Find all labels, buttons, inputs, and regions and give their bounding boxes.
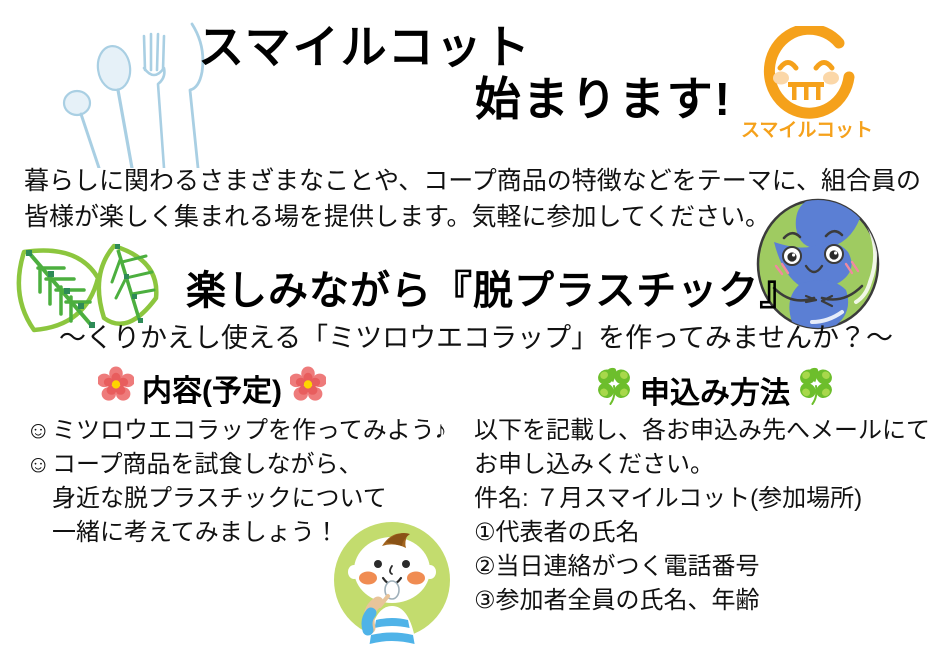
list-item-text: ミツロウエコラップを作ってみよう♪ [52, 417, 447, 444]
smiley-bullet-icon: ☺ [26, 448, 52, 482]
list-item-text: 一緒に考えてみましょう！ [52, 519, 339, 546]
flyer-title: スマイルコット 始まります! [198, 22, 738, 125]
application-line: ③参加者全員の氏名、年齢 [474, 584, 934, 618]
application-line: 以下を記載し、各お申込み先へメールにて [474, 414, 934, 448]
flower-icon [98, 366, 134, 410]
flower-icon [290, 366, 326, 410]
section-label-contents: 内容(予定) [140, 366, 284, 410]
section-header-application: 申込み方法 [596, 366, 834, 414]
list-item-text: 身近な脱プラスチックについて [52, 485, 387, 512]
main-headline: 楽しみながら『脱プラスチック』 [186, 258, 746, 316]
list-item: ☺ミツロウエコラップを作ってみよう♪ [26, 414, 466, 448]
list-item-text: コープ商品を試食しながら、 [52, 451, 363, 478]
application-line: ①代表者の氏名 [474, 516, 934, 550]
application-subject-line: 件名: ７月スマイルコット(参加場所) [474, 482, 934, 516]
smiley-bullet-icon: ☺ [26, 414, 52, 448]
clover-icon [798, 366, 834, 414]
flyer-canvas: スマイルコット 始まります! スマイルコット 暮らしに関わるさまざまなことや、コ… [0, 0, 940, 644]
sub-headline: 〜くりかえし使える「ミツロウエコラップ」を作ってみませんか？〜 [46, 316, 906, 355]
list-item: 身近な脱プラスチックについて [26, 482, 466, 516]
list-item: ☺コープ商品を試食しながら、 [26, 448, 466, 482]
intro-line-1: 暮らしに関わるさまざまなことや、コープ商品の特徴などをテーマに、組合員の [24, 163, 924, 199]
smile-cot-logo: スマイルコット [722, 26, 892, 146]
title-line-1: スマイルコット [198, 22, 738, 74]
smiling-face-c-icon [742, 26, 872, 121]
application-line: お申し込みください。 [474, 448, 934, 482]
application-instructions: 以下を記載し、各お申込み先へメールにて お申し込みください。 件名: ７月スマイ… [474, 414, 934, 618]
application-line: ②当日連絡がつく電話番号 [474, 550, 934, 584]
logo-text: スマイルコット [722, 115, 892, 142]
clover-icon [596, 366, 632, 414]
section-label-application: 申込み方法 [638, 368, 792, 412]
child-character-illustration [326, 516, 458, 644]
cutlery-illustration [52, 18, 212, 168]
earth-character-illustration [746, 196, 896, 336]
section-header-contents: 内容(予定) [98, 366, 326, 410]
title-line-2: 始まります! [198, 74, 738, 126]
